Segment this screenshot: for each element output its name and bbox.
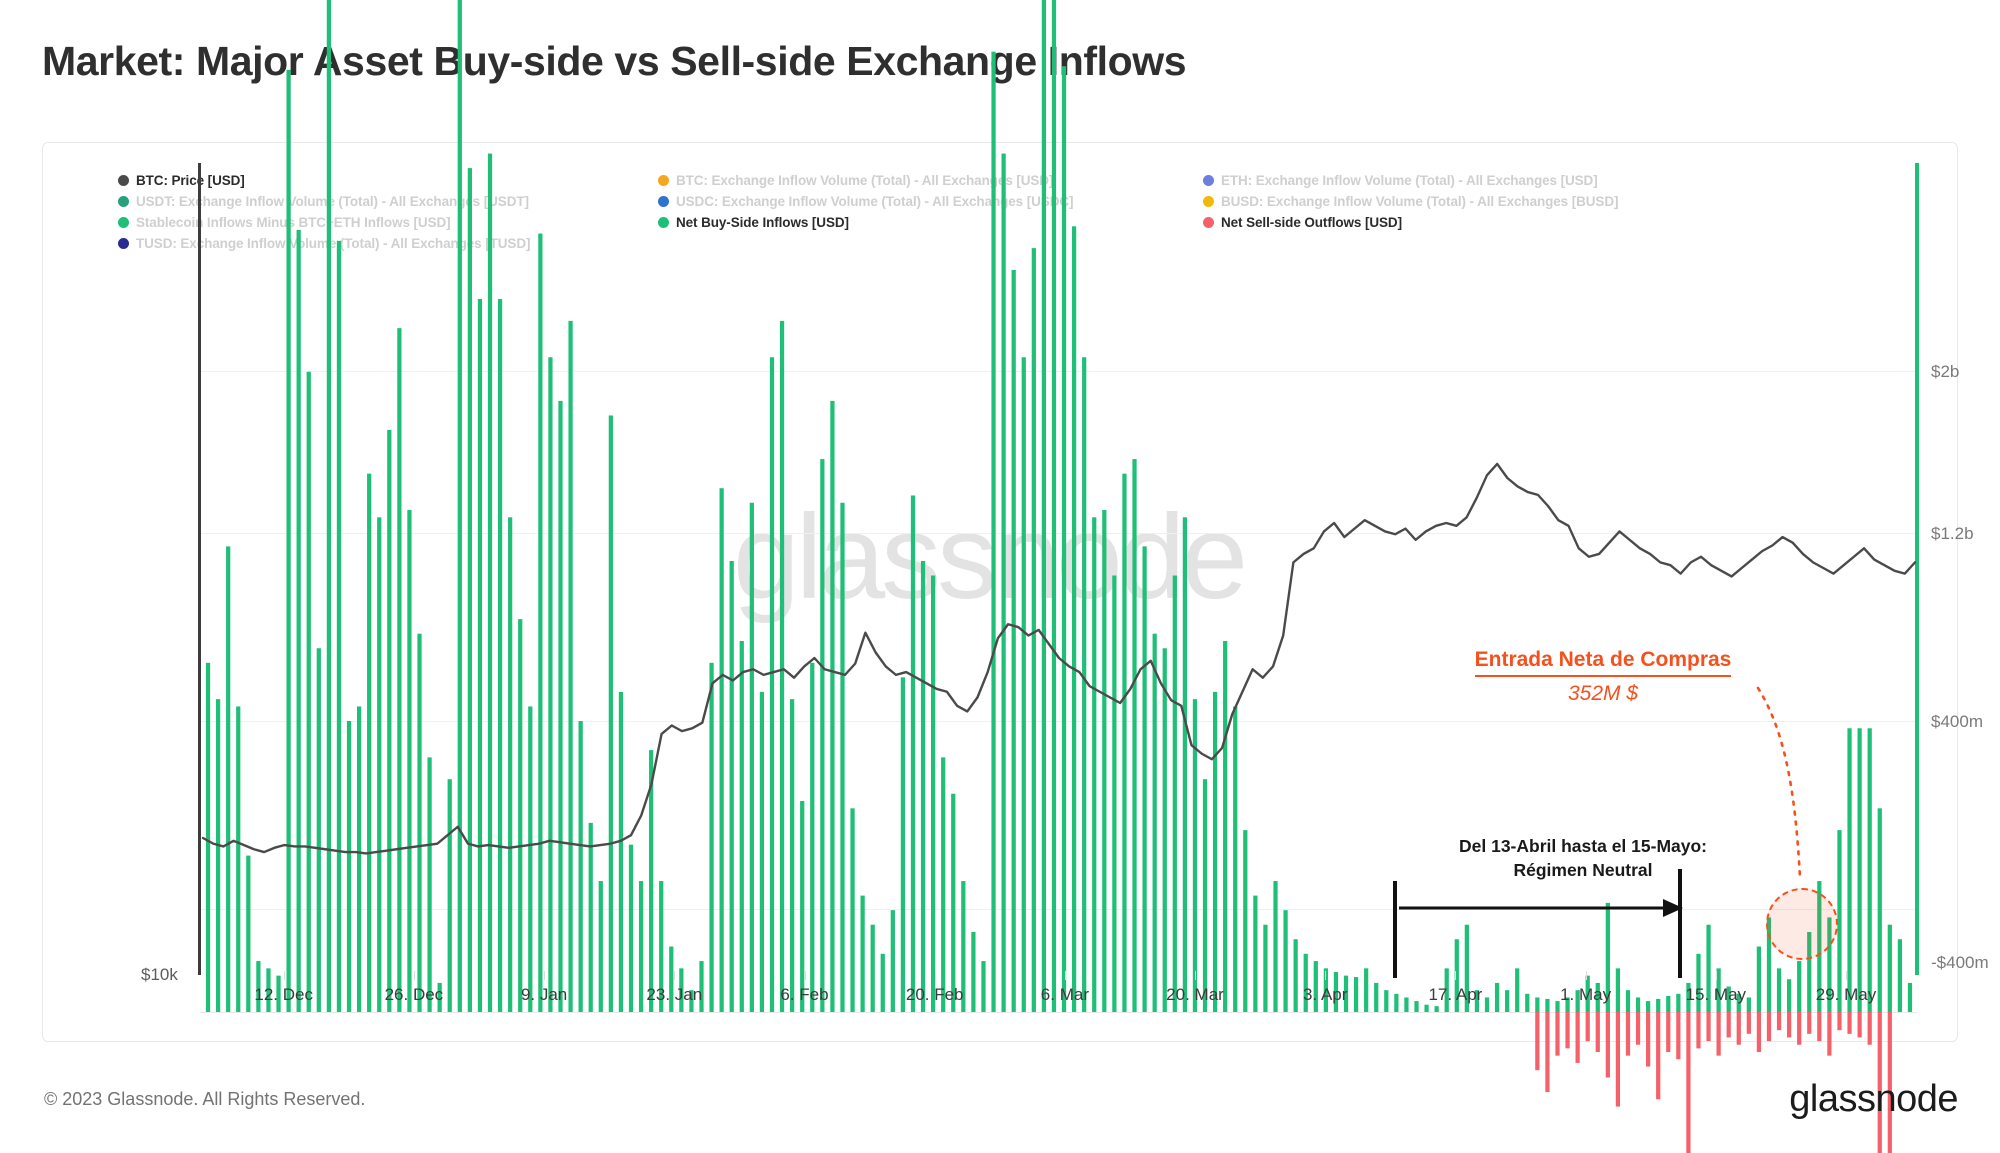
x-axis-tickmark (1065, 971, 1066, 980)
x-axis-tick-label: 6. Mar (1041, 985, 1089, 1005)
x-axis-tickmark (1195, 971, 1196, 980)
y-axis-right-tick: -$400m (1931, 953, 1989, 973)
chart-card: BTC: Price [USD] BTC: Exchange Inflow Vo… (42, 142, 1958, 1042)
x-axis-tick-label: 12. Dec (254, 985, 313, 1005)
copyright-text: © 2023 Glassnode. All Rights Reserved. (44, 1089, 365, 1110)
x-axis-tick-label: 9. Jan (521, 985, 567, 1005)
x-axis-tickmark (544, 971, 545, 980)
y-axis-left-tick: $10k (141, 965, 178, 985)
x-axis-tick-label: 29. May (1816, 985, 1876, 1005)
neutral-regime-annotation: Del 13-Abril hasta el 15-Mayo: Régimen N… (1373, 835, 1793, 882)
net-buy-annotation: Entrada Neta de Compras 352M $ (1438, 648, 1768, 706)
x-axis-tick-label: 17. Apr (1428, 985, 1482, 1005)
x-axis-tickmark (674, 971, 675, 980)
x-axis-tick-label: 23. Jan (646, 985, 702, 1005)
net-buy-annotation-title: Entrada Neta de Compras (1475, 648, 1732, 677)
neutral-regime-line2: Régimen Neutral (1373, 859, 1793, 883)
x-axis-tick-label: 15. May (1686, 985, 1746, 1005)
x-axis-tick-label: 3. Apr (1303, 985, 1347, 1005)
x-axis-tick-label: 20. Mar (1166, 985, 1224, 1005)
y-axis-right-tick: $1.2b (1931, 524, 1974, 544)
x-axis-tickmark (805, 971, 806, 980)
page-title: Market: Major Asset Buy-side vs Sell-sid… (42, 38, 1186, 85)
x-axis-tickmark (284, 971, 285, 980)
glassnode-logo: glassnode (1789, 1078, 1958, 1121)
x-axis-tick-label: 26. Dec (385, 985, 444, 1005)
x-axis-tickmark (1455, 971, 1456, 980)
y-axis-right-tick: $400m (1931, 712, 1983, 732)
x-axis-tickmark (1586, 971, 1587, 980)
chart-page: Market: Major Asset Buy-side vs Sell-sid… (0, 0, 2000, 1153)
x-axis-tickmark (935, 971, 936, 980)
net-buy-annotation-value: 352M $ (1438, 682, 1768, 706)
neutral-regime-line1: Del 13-Abril hasta el 15-Mayo: (1373, 835, 1793, 859)
x-axis-tickmark (1716, 971, 1717, 980)
x-axis-tick-label: 6. Feb (780, 985, 828, 1005)
x-axis-tickmark (1325, 971, 1326, 980)
neutral-bracket (43, 143, 1959, 1043)
x-axis-tick-label: 20. Feb (906, 985, 964, 1005)
x-axis-tickmark (414, 971, 415, 980)
net-buy-highlight-circle (1766, 888, 1838, 960)
x-axis-tick-label: 1. May (1560, 985, 1611, 1005)
plot-area: glassnode Entrad (43, 143, 1959, 1043)
y-axis-right-tick: $2b (1931, 362, 1959, 382)
x-axis-tickmark (1846, 971, 1847, 980)
